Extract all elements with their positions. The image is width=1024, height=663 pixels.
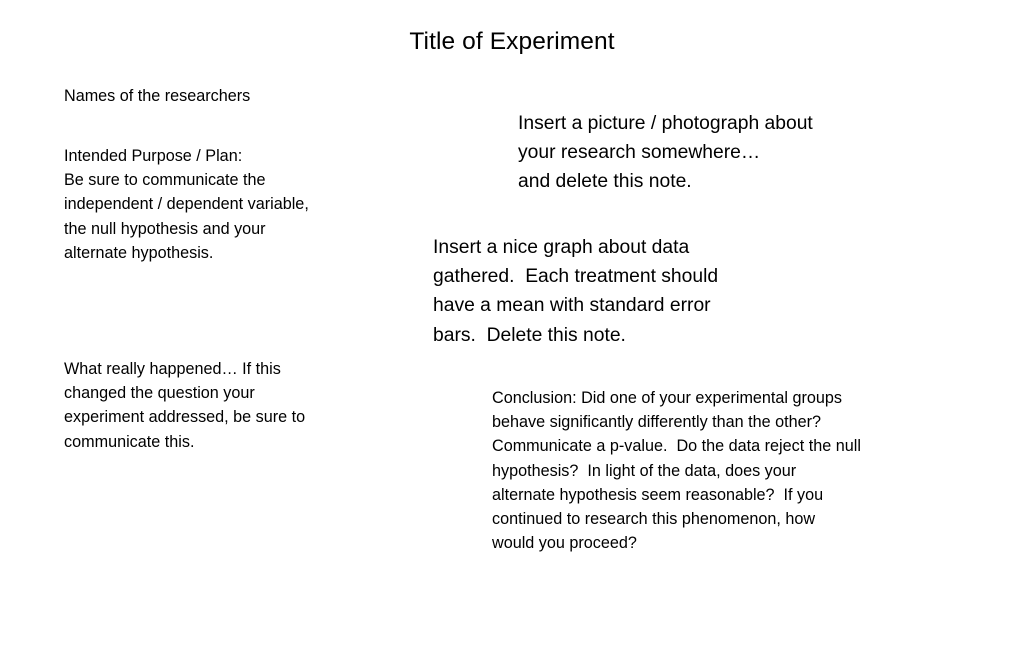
insert-picture-note[interactable]: Insert a picture / photograph about your… bbox=[518, 109, 918, 197]
what-really-happened-note[interactable]: What really happened… If this changed th… bbox=[64, 357, 379, 454]
researchers-names-placeholder[interactable]: Names of the researchers bbox=[64, 84, 394, 108]
insert-graph-note[interactable]: Insert a nice graph about data gathered.… bbox=[433, 233, 813, 350]
conclusion-note[interactable]: Conclusion: Did one of your experimental… bbox=[492, 386, 942, 555]
presentation-slide: Title of Experiment Names of the researc… bbox=[0, 0, 1024, 663]
slide-title[interactable]: Title of Experiment bbox=[0, 26, 1024, 58]
intended-purpose-note[interactable]: Intended Purpose / Plan: Be sure to comm… bbox=[64, 144, 374, 265]
